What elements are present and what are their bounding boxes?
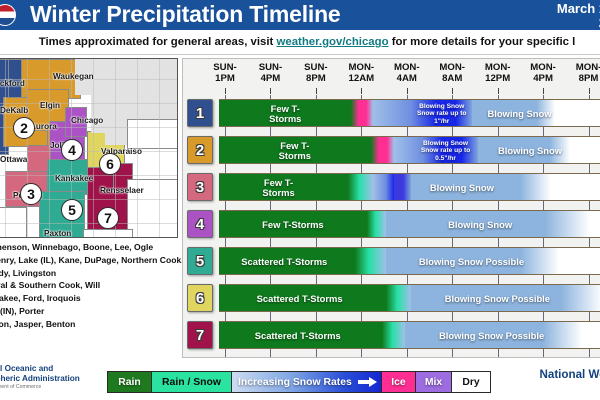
right-arrow-icon xyxy=(358,378,375,386)
timeline-tick xyxy=(452,88,453,94)
map-city-label: Rensselaer xyxy=(100,186,144,195)
map-city-label: DeKalb xyxy=(0,106,28,115)
timeline-time-label: MON-12PM xyxy=(475,62,521,84)
county-zone-row: Lake (IN), Porter xyxy=(0,306,183,317)
timeline-zone-badge-6[interactable]: 6 xyxy=(187,284,213,312)
timeline-row-zone-2: 2Few T-StormsBlowing SnowSnow rate up to… xyxy=(183,134,600,167)
timeline-segment-snow-fade xyxy=(386,248,559,275)
map-city-label: Chicago xyxy=(71,116,103,125)
time-label-hour: 4PM xyxy=(247,73,293,84)
time-label-day: SUN- xyxy=(293,62,339,73)
nws-footer: National Weather Chi xyxy=(540,368,600,396)
timeline-segment-rain xyxy=(219,137,371,164)
time-label-day: SUN- xyxy=(247,62,293,73)
time-label-day: MON- xyxy=(338,62,384,73)
county-zone-row: Newton, Jasper, Benton xyxy=(0,319,183,330)
timeline-row-track: Few T-StormsBlowing Snow xyxy=(219,173,600,201)
timeline-segment-ice xyxy=(351,100,372,127)
timeline-tick xyxy=(543,88,544,94)
time-label-hour: 8AM xyxy=(429,73,475,84)
timeline-segment-snow-fade xyxy=(478,137,570,164)
timeline-segment-snow-ramp xyxy=(373,174,394,201)
county-zone-text: Kankakee, Ford, Iroquois xyxy=(0,293,81,304)
timeline-tick xyxy=(270,88,271,94)
noaa-footer: National Oceanic and Atmospheric Adminis… xyxy=(0,364,120,391)
timeline-row-track: Few T-StormsBlowing SnowSnow rate up to1… xyxy=(219,99,600,127)
timeline-row-zone-4: 4Few T-StormsBlowing Snow xyxy=(183,208,600,241)
timeline-time-label: SUN-4PM xyxy=(247,62,293,84)
timeline-time-label: SUN-1PM xyxy=(202,62,248,84)
timeline-segment-snow-fade xyxy=(411,285,600,312)
header-date-line1: March 1 xyxy=(557,2,600,16)
county-zone-list: Stephenson, Winnebago, Boone, Lee, OgleM… xyxy=(0,242,183,332)
time-label-day: MON- xyxy=(520,62,566,73)
map-zone-badge-3[interactable]: 3 xyxy=(20,183,42,205)
time-label-hour: 12PM xyxy=(475,73,521,84)
time-label-hour: 4PM xyxy=(520,73,566,84)
header-bar: Winter Precipitation Timeline March 1 2 xyxy=(0,0,600,30)
subtitle-prefix: Times approximated for general areas, vi… xyxy=(39,36,277,48)
county-boundary xyxy=(159,59,160,238)
legend-item-ice: Ice xyxy=(382,372,416,392)
time-label-hour: 4AM xyxy=(384,73,430,84)
county-zone-text: Lake (IN), Porter xyxy=(0,306,44,317)
timeline-segment-rain xyxy=(219,211,367,238)
nws-footer-line1: National Weather xyxy=(540,368,600,382)
legend-item-increasing-snow-rates: Increasing Snow Rates xyxy=(232,372,382,392)
timeline-zone-badge-1[interactable]: 1 xyxy=(187,99,213,127)
timeline-segment-rain xyxy=(219,322,382,349)
timeline-time-label: MON-4AM xyxy=(384,62,430,84)
timeline-segment-rain-snow xyxy=(355,248,386,275)
timeline-time-label: MON-8AM xyxy=(429,62,475,84)
noaa-footer-line2: Atmospheric Administration xyxy=(0,374,120,384)
timeline-row-track: Scattered T-StormsBlowing Snow Possible xyxy=(219,284,600,312)
county-zone-row: McHenry, Lake (IL), Kane, DuPage, Northe… xyxy=(0,255,183,266)
legend-item-label: Dry xyxy=(462,377,479,388)
time-label-hour: 1PM xyxy=(202,73,248,84)
county-boundary xyxy=(27,59,28,238)
timeline-row-track: Few T-StormsBlowing Snow xyxy=(219,210,600,238)
time-label-hour: 8PM xyxy=(566,73,600,84)
timeline-segment-snow-fade xyxy=(472,100,555,127)
timeline-segment-snow-heavy xyxy=(436,100,472,127)
timeline-zone-badge-2[interactable]: 2 xyxy=(187,136,213,164)
timeline-tick xyxy=(225,88,226,94)
timeline-panel[interactable]: SUN-1PMSUN-4PMSUN-8PMMON-12AMMON-4AMMON-… xyxy=(182,58,600,358)
timeline-zone-badge-4[interactable]: 4 xyxy=(187,210,213,238)
subtitle-bar: Times approximated for general areas, vi… xyxy=(0,30,600,55)
timeline-time-label: MON-8PM xyxy=(566,62,600,84)
legend-item-label: Rain xyxy=(118,377,141,388)
header-date: March 1 2 xyxy=(557,2,600,30)
timeline-tick xyxy=(589,88,590,94)
time-label-day: SUN- xyxy=(202,62,248,73)
time-label-hour: 12AM xyxy=(338,73,384,84)
county-boundary xyxy=(0,103,178,104)
map-city-label: Elgin xyxy=(40,101,60,110)
timeline-zone-badge-5[interactable]: 5 xyxy=(187,247,213,275)
timeline-time-label: MON-4PM xyxy=(520,62,566,84)
timeline-row-track: Few T-StormsBlowing SnowSnow rate up to0… xyxy=(219,136,600,164)
legend-item-label: Increasing Snow Rates xyxy=(238,377,352,388)
timeline-row-zone-5: 5Scattered T-StormsBlowing Snow Possible xyxy=(183,245,600,278)
county-zone-row: Grundy, Livingston xyxy=(0,268,183,279)
map-city-label: Kankakee xyxy=(55,174,93,183)
legend-item-dry: Dry xyxy=(452,372,490,392)
time-label-day: MON- xyxy=(429,62,475,73)
county-zone-text: Newton, Jasper, Benton xyxy=(0,319,75,330)
page-title: Winter Precipitation Timeline xyxy=(30,0,341,29)
map-city-label: Rockford xyxy=(0,79,25,88)
timeline-row-zone-7: 7Scattered T-StormsBlowing Snow Possible xyxy=(183,319,600,352)
timeline-row-track: Scattered T-StormsBlowing Snow Possible xyxy=(219,321,600,349)
timeline-segment-rain-snow xyxy=(348,174,373,201)
subtitle-suffix: for more details for your specific l xyxy=(389,36,576,48)
map-zone-badge-7[interactable]: 7 xyxy=(97,207,119,229)
timeline-zone-badge-7[interactable]: 7 xyxy=(187,321,213,349)
legend-item-label: Ice xyxy=(391,377,405,388)
header-date-line2: 2 xyxy=(557,16,600,30)
timeline-segment-rain-snow xyxy=(382,322,405,349)
timeline-tick xyxy=(361,88,362,94)
map-zone-badge-4[interactable]: 4 xyxy=(61,139,83,161)
timeline-zone-badge-3[interactable]: 3 xyxy=(187,173,213,201)
timeline-segment-snow-ramp xyxy=(373,100,436,127)
timeline-tick xyxy=(498,88,499,94)
county-boundary xyxy=(0,151,178,152)
timeline-segment-snow-fade xyxy=(405,322,582,349)
county-zone-row: Central & Southern Cook, Will xyxy=(0,280,183,291)
timeline-row-zone-6: 6Scattered T-StormsBlowing Snow Possible xyxy=(183,282,600,315)
time-label-day: MON- xyxy=(384,62,430,73)
timeline-row-track: Scattered T-StormsBlowing Snow Possible xyxy=(219,247,600,275)
county-zone-text: Central & Southern Cook, Will xyxy=(0,280,100,291)
nws-footer-line2: Chi xyxy=(540,382,600,396)
noaa-footer-line1: National Oceanic and xyxy=(0,364,120,374)
weather-gov-link[interactable]: weather.gov/chicago xyxy=(277,36,389,48)
zone-map[interactable]: RockfordWaukeganDeKalbElginChicagoAurora… xyxy=(0,58,178,238)
timeline-segment-rain xyxy=(219,285,386,312)
timeline-segment-snow-fade xyxy=(411,174,551,201)
county-boundary xyxy=(0,223,178,224)
county-zone-row: Stephenson, Winnebago, Boone, Lee, Ogle xyxy=(0,242,183,253)
subtitle-text: Times approximated for general areas, vi… xyxy=(39,36,576,48)
county-zone-row: Kankakee, Ford, Iroquois xyxy=(0,293,183,304)
map-city-label: Ottawa xyxy=(0,155,27,164)
timeline-segment-snow-heavy xyxy=(394,174,411,201)
winter-precipitation-timeline-infographic: Winter Precipitation Timeline March 1 2 … xyxy=(0,0,600,400)
timeline-time-label: MON-12AM xyxy=(338,62,384,84)
legend-item-label: Rain / Snow xyxy=(162,377,221,388)
noaa-footer-sub: U.S. Department of Commerce xyxy=(0,383,120,391)
map-zone-badge-2[interactable]: 2 xyxy=(13,117,35,139)
timeline-tick xyxy=(407,88,408,94)
map-zone-badge-5[interactable]: 5 xyxy=(61,199,83,221)
legend-item-rain-snow: Rain / Snow xyxy=(152,372,232,392)
timeline-row-zone-1: 1Few T-StormsBlowing SnowSnow rate up to… xyxy=(183,97,600,130)
time-label-day: MON- xyxy=(566,62,600,73)
legend-item-label: Mix xyxy=(425,377,442,388)
timeline-row-zone-3: 3Few T-StormsBlowing Snow xyxy=(183,171,600,204)
timeline-time-label: SUN-8PM xyxy=(293,62,339,84)
timeline-segment-snow-fade xyxy=(386,211,590,238)
timeline-segment-snow-heavy xyxy=(442,137,478,164)
timeline-segment-rain-snow xyxy=(367,211,386,238)
map-city-label: Paxton xyxy=(44,229,71,238)
timeline-segment-rain xyxy=(219,174,348,201)
legend: RainRain / SnowIncreasing Snow RatesIceM… xyxy=(107,371,491,393)
legend-item-mix: Mix xyxy=(416,372,452,392)
map-city-label: Waukegan xyxy=(53,72,94,81)
timeline-segment-rain xyxy=(219,248,355,275)
map-zone-badge-6[interactable]: 6 xyxy=(99,153,121,175)
county-zone-text: Grundy, Livingston xyxy=(0,268,56,279)
map-outside-region xyxy=(83,229,133,238)
timeline-segment-rain xyxy=(219,100,351,127)
timeline-axis: SUN-1PMSUN-4PMSUN-8PMMON-12AMMON-4AMMON-… xyxy=(183,59,600,95)
noaa-seal-icon xyxy=(0,4,16,26)
timeline-segment-snow-ramp xyxy=(394,137,442,164)
time-label-hour: 8PM xyxy=(293,73,339,84)
county-zone-text: Stephenson, Winnebago, Boone, Lee, Ogle xyxy=(0,242,153,253)
time-label-day: MON- xyxy=(475,62,521,73)
timeline-segment-rain-snow xyxy=(386,285,411,312)
timeline-tick xyxy=(316,88,317,94)
county-boundary xyxy=(93,59,94,238)
timeline-segment-ice xyxy=(371,137,394,164)
map-outside-region xyxy=(127,119,178,149)
